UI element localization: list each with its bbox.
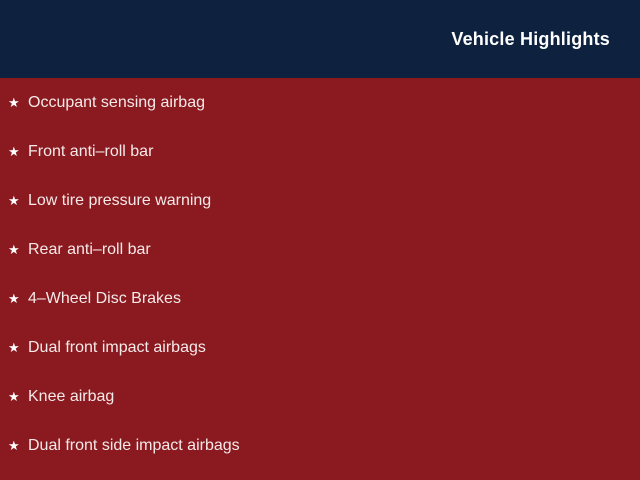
list-item: ★Dual front side impact airbags (0, 421, 640, 470)
list-item: ★Front anti–roll bar (0, 127, 640, 176)
list-item-label: Rear anti–roll bar (28, 225, 151, 274)
list-item-label: Occupant sensing airbag (28, 78, 205, 127)
star-icon: ★ (8, 323, 28, 372)
list-item: ★Rear anti–roll bar (0, 225, 640, 274)
vehicle-highlights-slide: Vehicle Highlights ★Occupant sensing air… (0, 0, 640, 480)
star-icon: ★ (8, 225, 28, 274)
star-icon: ★ (8, 78, 28, 127)
list-item-label: Front anti–roll bar (28, 127, 153, 176)
star-icon: ★ (8, 372, 28, 421)
list-item-label: Knee airbag (28, 372, 114, 421)
list-item: ★4–Wheel Disc Brakes (0, 274, 640, 323)
list-item-label: 4–Wheel Disc Brakes (28, 274, 181, 323)
vehicle-highlights-list: ★Occupant sensing airbag ★Front anti–rol… (0, 78, 640, 480)
list-item: ★Knee airbag (0, 372, 640, 421)
list-item-label: Low tire pressure warning (28, 176, 211, 225)
list-item: ★Dual front impact airbags (0, 323, 640, 372)
list-item: ★Low tire pressure warning (0, 176, 640, 225)
list-item: ★Occupant sensing airbag (0, 78, 640, 127)
star-icon: ★ (8, 274, 28, 323)
header-band: Vehicle Highlights (0, 0, 640, 78)
list-item-label: Dual front side impact airbags (28, 421, 240, 470)
page-title: Vehicle Highlights (451, 28, 610, 50)
star-icon: ★ (8, 127, 28, 176)
star-icon: ★ (8, 176, 28, 225)
list-item-label: Dual front impact airbags (28, 323, 206, 372)
star-icon: ★ (8, 421, 28, 470)
